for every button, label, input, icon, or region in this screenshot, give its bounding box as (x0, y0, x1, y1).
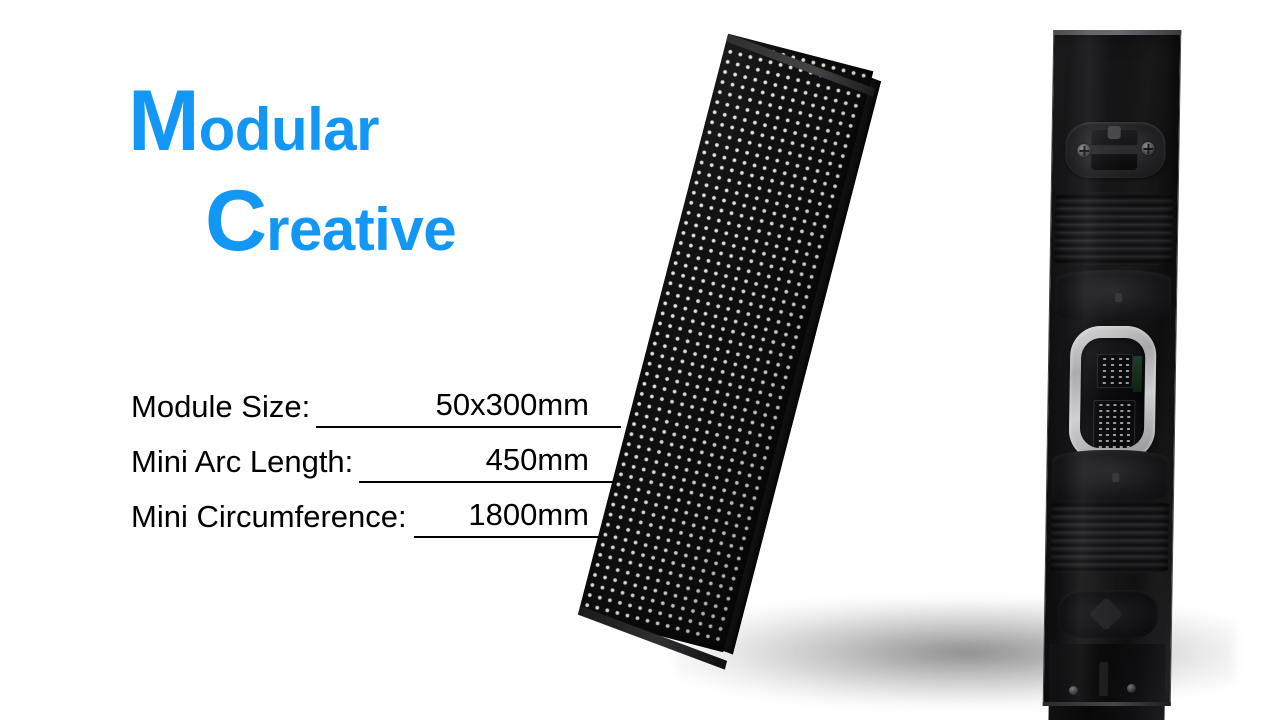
bracket-core (1091, 130, 1138, 170)
bracket-screw-right (1141, 142, 1154, 155)
title-line-creative: Creative (205, 178, 456, 264)
pin-column (1113, 404, 1117, 448)
led-dot-matrix-face (578, 34, 912, 662)
rear-housing-foot (1048, 644, 1165, 720)
title-modular-rest: odular (199, 96, 379, 163)
product-image (620, 0, 1280, 720)
spec-row-mini-arc-length: Mini Arc Length: 450mm . (0, 441, 660, 496)
spec-label-module-size: Module Size: (131, 386, 310, 428)
pin-column (1127, 404, 1131, 448)
ribbed-cooling-fins-lower (1050, 500, 1169, 574)
spec-row-mini-circumference: Mini Circumference: 1800mm . (0, 496, 660, 551)
pin-column (1120, 404, 1124, 448)
pin-column (1119, 358, 1122, 384)
spec-value-module-size: 50x300mm (436, 385, 589, 425)
title-creative-capital: C (205, 173, 266, 269)
headline-block: Modular Creative (0, 0, 640, 300)
rear-bottom-edge (1043, 702, 1171, 706)
spec-value-mini-circumference: 1800mm (468, 495, 589, 535)
title-creative-rest: reative (266, 196, 456, 263)
title-modular-capital: M (128, 73, 199, 169)
spec-label-mini-arc-length: Mini Arc Length: (131, 441, 353, 483)
spec-underline-module-size: 50x300mm (316, 386, 621, 428)
bottom-mounting-bracket (1058, 590, 1159, 638)
spec-value-mini-arc-length: 450mm (486, 440, 589, 480)
housing-band-marker-lower (1113, 473, 1120, 482)
connector-recess (1080, 338, 1146, 448)
spec-underline-mini-circumference: 1800mm (414, 496, 621, 538)
module-front-face (578, 34, 873, 652)
ribbed-cooling-fins-upper (1055, 192, 1174, 266)
top-mounting-bracket (1065, 122, 1166, 178)
module-rear-housing (1043, 30, 1182, 706)
pin-column (1126, 358, 1129, 384)
pin-column (1103, 358, 1106, 384)
pin-column (1099, 404, 1103, 448)
spec-label-mini-circumference: Mini Circumference: (131, 496, 407, 538)
slide-canvas: Modular Creative Module Size: 50x300mm .… (0, 0, 1280, 720)
spec-row-module-size: Module Size: 50x300mm . (0, 386, 660, 441)
spec-underline-mini-arc-length: 450mm (359, 441, 621, 483)
foot-screw-left (1069, 686, 1078, 695)
connector-pin-header-bottom (1093, 400, 1136, 448)
rear-top-edge (1053, 30, 1181, 35)
pin-column (1106, 404, 1110, 448)
title-line-modular: Modular (128, 78, 379, 164)
connector-pcb-strip (1133, 356, 1143, 392)
housing-band-marker-upper (1115, 293, 1122, 302)
housing-band-lower (1052, 450, 1169, 502)
spec-list: Module Size: 50x300mm . Mini Arc Length:… (0, 386, 660, 551)
housing-band-upper (1055, 270, 1172, 322)
signal-power-connector (1069, 326, 1157, 460)
foot-screw-right (1127, 684, 1136, 693)
pin-column (1111, 358, 1114, 384)
connector-pin-header-top (1097, 354, 1134, 388)
foot-tab (1099, 662, 1109, 696)
bracket-screw-left (1077, 144, 1090, 157)
led-pixel-grid (583, 39, 869, 648)
